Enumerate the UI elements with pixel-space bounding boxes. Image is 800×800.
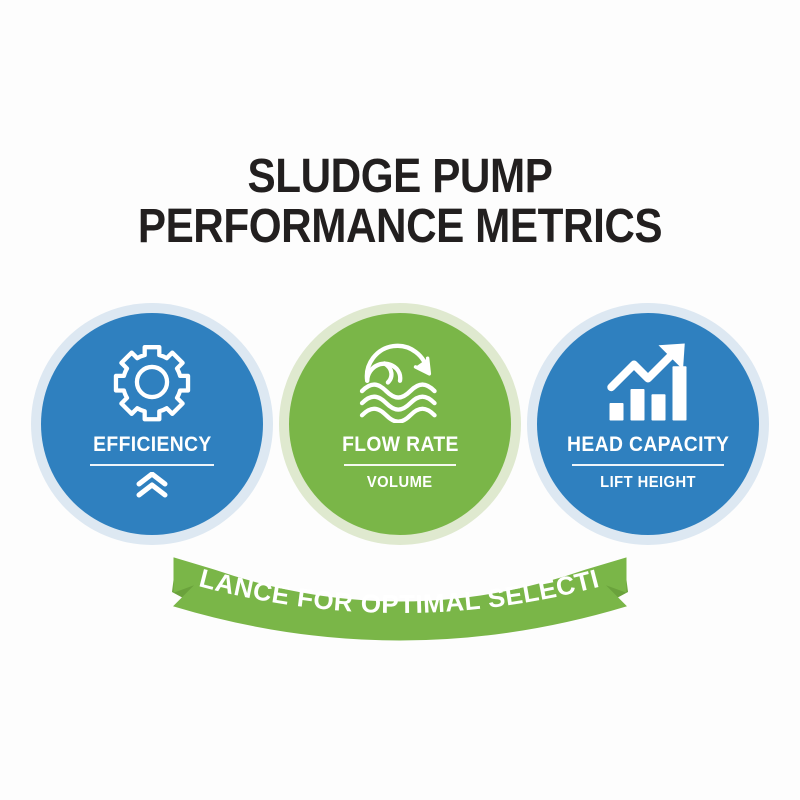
metric-sublabel: VOLUME xyxy=(367,474,433,492)
metric-circle-row: EFFICIENCY xyxy=(0,313,800,538)
metric-divider xyxy=(90,464,214,466)
title-line-2: PERFORMANCE METRICS xyxy=(48,202,752,252)
double-chevron-up-icon xyxy=(135,472,169,503)
metric-label: EFFICIENCY xyxy=(93,433,212,457)
metric-circle-head-capacity[interactable]: HEAD CAPACITY LIFT HEIGHT xyxy=(537,313,759,535)
metric-divider xyxy=(344,464,456,466)
ribbon-banner: BALANCE FOR OPTIMAL SELECTION xyxy=(168,548,632,644)
metric-divider xyxy=(572,464,724,466)
metric-sublabel: LIFT HEIGHT xyxy=(600,474,696,492)
metric-circle-efficiency[interactable]: EFFICIENCY xyxy=(41,313,263,535)
infographic-canvas: SLUDGE PUMP PERFORMANCE METRICS EFFICIEN… xyxy=(0,0,800,800)
metric-label: FLOW RATE xyxy=(342,433,459,457)
gear-icon xyxy=(109,339,195,425)
wave-flow-icon xyxy=(355,339,445,425)
bar-chart-rising-arrow-icon xyxy=(604,339,692,425)
metric-circle-flow-rate[interactable]: FLOW RATE VOLUME xyxy=(289,313,511,535)
metric-label: HEAD CAPACITY xyxy=(567,433,729,457)
title-line-1: SLUDGE PUMP xyxy=(48,152,752,202)
page-title: SLUDGE PUMP PERFORMANCE METRICS xyxy=(0,152,800,252)
